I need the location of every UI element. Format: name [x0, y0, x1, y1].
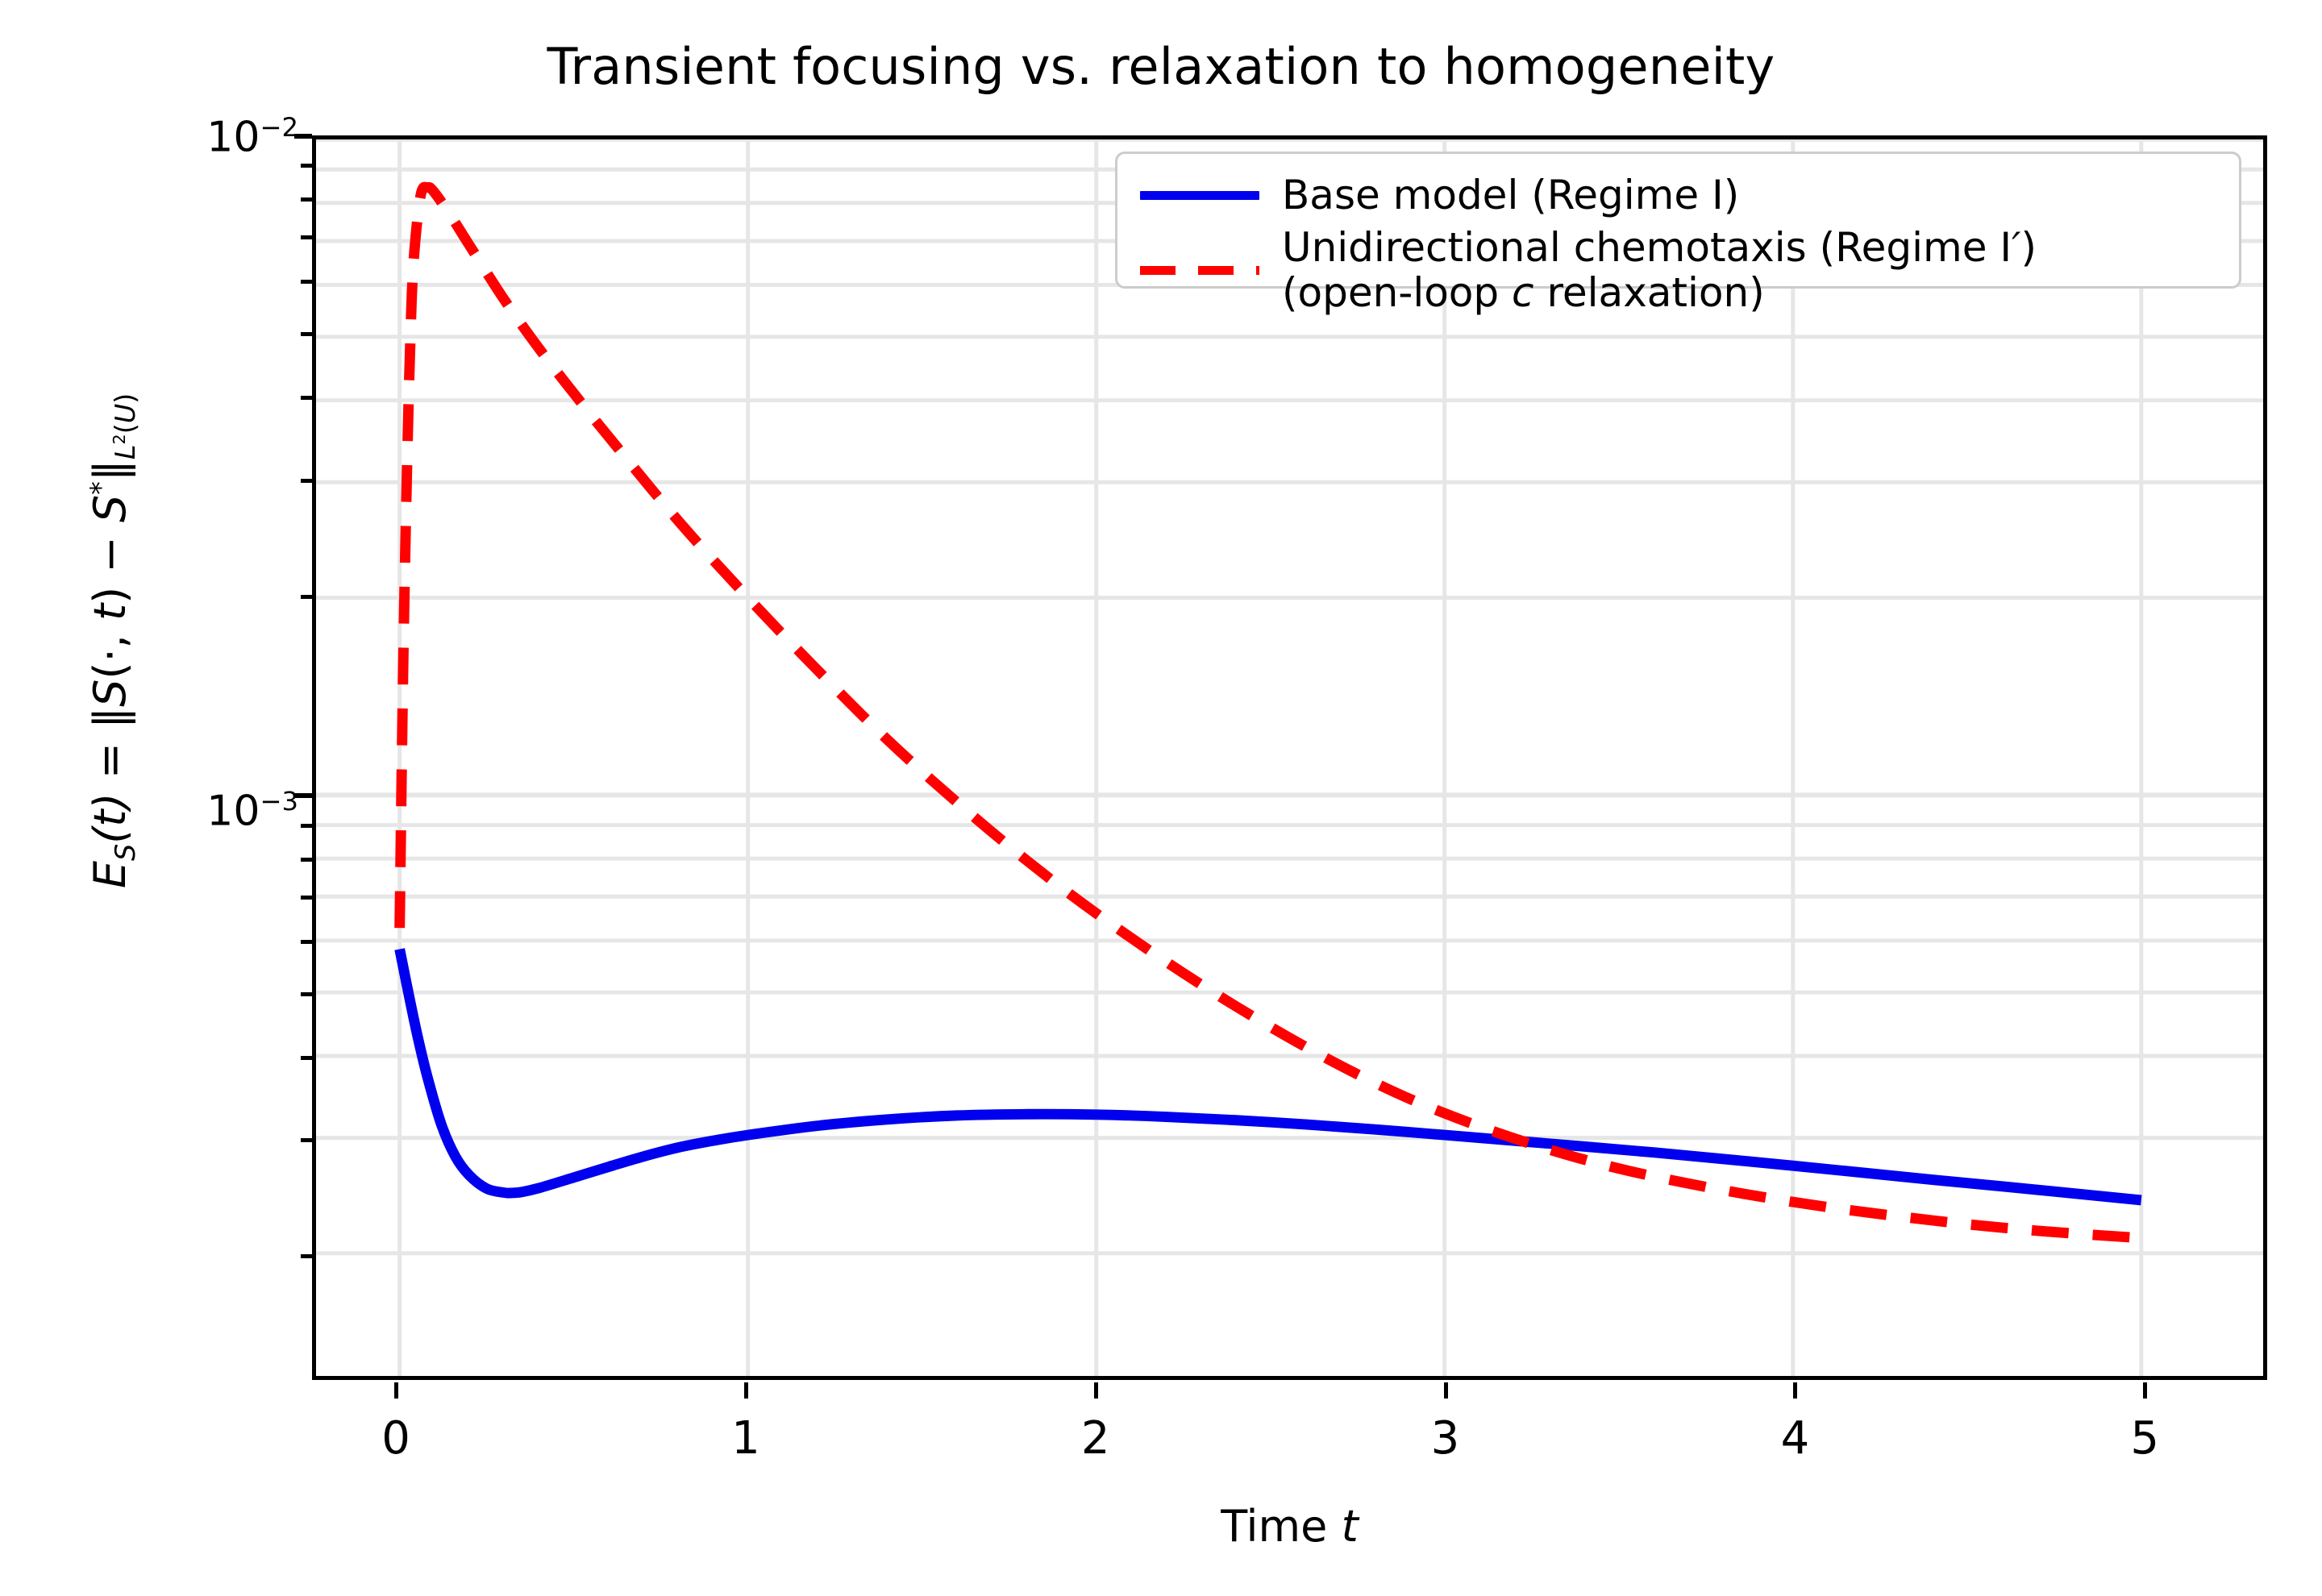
x-tick-mark [2143, 1382, 2147, 1399]
legend-label-line2-var: c [1512, 269, 1534, 316]
chart-legend[interactable]: Base model (Regime I) Unidirectional che… [1115, 152, 2241, 289]
y-tick-mark [294, 793, 312, 798]
plot-area [312, 135, 2267, 1380]
x-axis-label: Time t [312, 1501, 2267, 1552]
x-tick-label: 1 [681, 1412, 810, 1465]
legend-entry-base-model[interactable]: Base model (Regime I) [1135, 165, 2221, 225]
y-tick-mark [301, 824, 312, 828]
y-tick-mark [301, 396, 312, 400]
y-axis-label: ES(t) = ‖S(·, t) − S*‖L2(U) [85, 77, 141, 1205]
y-tick-mark [301, 595, 312, 599]
y-tick-mark [301, 1056, 312, 1060]
x-tick-label: 2 [1031, 1412, 1160, 1465]
y-tick-mantissa: 10 [206, 113, 260, 161]
legend-label-base-model: Base model (Regime I) [1282, 172, 1739, 218]
y-tick-mark [301, 332, 312, 336]
x-tick-label: 0 [331, 1412, 460, 1465]
y-tick-mark [301, 940, 312, 944]
xlabel-variable: t [1342, 1501, 1359, 1552]
legend-entry-unidirectional[interactable]: Unidirectional chemotaxis (Regime I′) (o… [1135, 225, 2221, 315]
x-tick-mark [394, 1382, 398, 1399]
x-tick-mark [1094, 1382, 1098, 1399]
y-tick-mark [294, 134, 312, 139]
y-tick-mark [301, 896, 312, 900]
ylabel-S-sub: S [110, 844, 141, 861]
legend-label-line2-a: (open-loop [1282, 269, 1512, 316]
y-tick-mark [301, 992, 312, 996]
x-tick-mark [1793, 1382, 1797, 1399]
y-tick-mark [301, 197, 312, 202]
y-tick-mark [301, 1138, 312, 1142]
xlabel-prefix: Time [1221, 1501, 1341, 1552]
y-tick-mark [301, 280, 312, 284]
legend-label-line1: Unidirectional chemotaxis (Regime I [1282, 224, 2012, 271]
y-tick-label-1e-3: 10−3 [56, 786, 298, 835]
ylabel-mid: (t) = ‖S(·, t) − S*‖L2(U) [85, 393, 135, 844]
y-tick-mark [301, 858, 312, 862]
legend-label-line2-b: relaxation) [1534, 269, 1765, 316]
figure-canvas: Transient focusing vs. relaxation to hom… [0, 0, 2322, 1596]
x-tick-mark [744, 1382, 748, 1399]
y-tick-exponent: −2 [260, 112, 298, 143]
legend-label-line1-close: ) [2021, 224, 2037, 271]
legend-swatch-solid-blue [1135, 177, 1264, 213]
x-tick-label: 4 [1730, 1412, 1859, 1465]
y-tick-mantissa: 10 [206, 787, 260, 835]
data-curves [316, 139, 2263, 1376]
y-tick-exponent: −3 [260, 786, 298, 817]
y-tick-mark [301, 235, 312, 239]
legend-label-unidirectional: Unidirectional chemotaxis (Regime I′) (o… [1282, 225, 2037, 315]
y-tick-mark [301, 164, 312, 168]
y-tick-mark [301, 1254, 312, 1258]
y-tick-label-1e-2: 10−2 [56, 112, 298, 161]
chart-title: Transient focusing vs. relaxation to hom… [0, 37, 2322, 96]
plot-inner [316, 139, 2263, 1376]
x-tick-label: 5 [2080, 1412, 2209, 1465]
legend-swatch-dashed-red [1135, 252, 1264, 288]
y-tick-mark [301, 479, 312, 483]
ylabel-E: E [85, 861, 135, 888]
x-tick-mark [1444, 1382, 1448, 1399]
x-tick-label: 3 [1381, 1412, 1510, 1465]
